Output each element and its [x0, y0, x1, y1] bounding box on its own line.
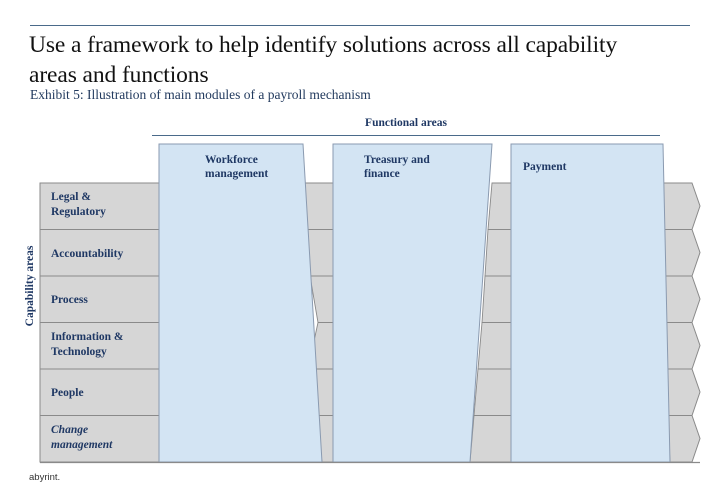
wedge-segment	[488, 183, 511, 230]
capability-row-label: management	[51, 439, 113, 451]
functional-column-payment[interactable]	[511, 144, 670, 462]
capability-row-label: Process	[51, 294, 88, 306]
functional-column-label: Payment	[523, 161, 567, 173]
slide-canvas: Use a framework to help identify solutio…	[0, 0, 720, 498]
functional-column-label: finance	[364, 168, 400, 180]
wedge-segment	[474, 369, 511, 416]
wedge-segment	[485, 230, 511, 277]
arrow-chevron-icon[interactable]	[667, 416, 700, 463]
capability-row-label: Regulatory	[51, 206, 106, 218]
capability-row-cells	[40, 183, 160, 462]
functional-column-label: Treasury and	[364, 154, 430, 166]
arrow-chevron-icon[interactable]	[661, 183, 700, 230]
capability-row-label: People	[51, 387, 84, 399]
brand-footer: abyrint.	[29, 472, 60, 483]
capability-row-label: Accountability	[51, 248, 123, 260]
functional-column-treasury-and-finance[interactable]	[333, 144, 492, 462]
wedge-segment	[478, 323, 511, 370]
wedge-segment	[482, 276, 511, 323]
functional-area-columns	[159, 144, 670, 462]
framework-diagram: Workforce management Treasury and financ…	[0, 0, 720, 498]
wedge-segment	[470, 416, 511, 463]
functional-column-workforce-management[interactable]	[159, 144, 322, 462]
functional-column-label: Workforce	[205, 154, 258, 166]
functional-column-label: management	[205, 168, 268, 180]
capability-row-label: Change	[51, 424, 88, 436]
capability-row-label: Legal &	[51, 191, 91, 203]
capability-row-label: Information &	[51, 331, 124, 343]
capability-row-label: Technology	[51, 346, 107, 358]
